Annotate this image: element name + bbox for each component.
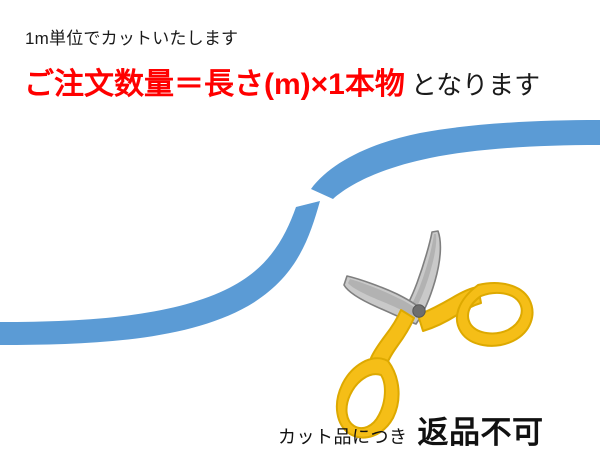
footnote-emphasis: 返品不可 (408, 415, 544, 450)
headline-sub-line: 1m単位でカットいたします (25, 30, 238, 47)
scissors-pivot-icon (413, 305, 425, 317)
poster-canvas: 1m単位でカットいたします ご注文数量＝長さ(m)×1本物となります カット品に… (0, 0, 600, 466)
headline-tail: となります (405, 70, 540, 100)
scissors (337, 231, 533, 437)
headline-emphasis: ご注文数量＝長さ(m)×1本物 (24, 68, 405, 101)
headline-main-line: ご注文数量＝長さ(m)×1本物となります (24, 70, 540, 100)
footnote-line: カット品につき返品不可 (278, 417, 544, 448)
blue-cable-right-segment (311, 120, 600, 199)
footnote-prefix: カット品につき (278, 427, 408, 447)
scissors-handle-right (418, 283, 532, 346)
blue-cable-left-segment (0, 201, 320, 345)
